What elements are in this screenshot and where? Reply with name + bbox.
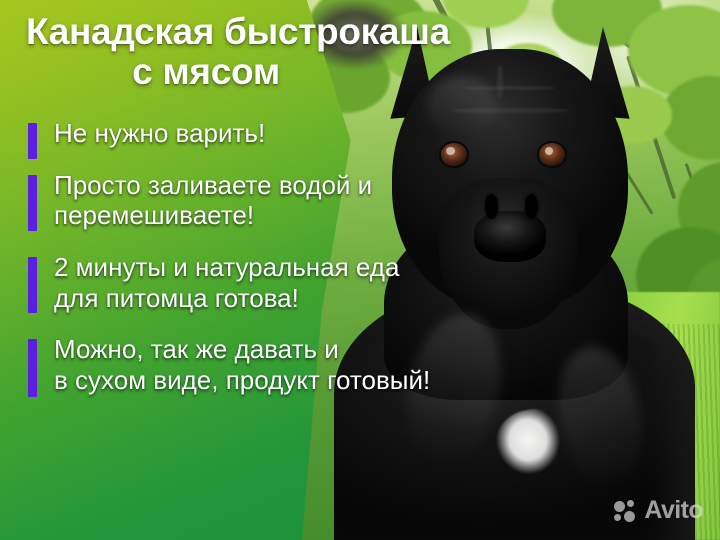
list-item: Не нужно варить!: [28, 118, 688, 149]
avito-watermark: Avito: [614, 498, 703, 523]
bullet-marker: [28, 123, 37, 159]
bullet-text: Просто заливаете водой и перемешиваете!: [54, 170, 688, 231]
bullet-marker: [28, 257, 37, 313]
bullet-text: Можно, так же давать и в сухом виде, про…: [54, 334, 688, 395]
poster-content: Канадская быстрокаша с мясом Не нужно ва…: [0, 0, 720, 540]
bullet-marker: [28, 339, 37, 397]
bullet-marker: [28, 175, 37, 231]
avito-wordmark: Avito: [644, 498, 703, 523]
page-title: Канадская быстрокаша с мясом: [26, 12, 496, 92]
bullet-text: Не нужно варить!: [54, 118, 688, 149]
list-item: 2 минуты и натуральная еда для питомца г…: [28, 252, 688, 313]
bullet-text: 2 минуты и натуральная еда для питомца г…: [54, 252, 688, 313]
title-line-2: с мясом: [26, 52, 496, 92]
title-line-1: Канадская быстрокаша: [26, 12, 496, 52]
list-item: Просто заливаете водой и перемешиваете!: [28, 170, 688, 231]
advertisement-poster: Канадская быстрокаша с мясом Не нужно ва…: [0, 0, 720, 540]
avito-dots-icon: [614, 500, 637, 522]
benefit-list: Не нужно варить! Просто заливаете водой …: [28, 118, 688, 417]
list-item: Можно, так же давать и в сухом виде, про…: [28, 334, 688, 395]
